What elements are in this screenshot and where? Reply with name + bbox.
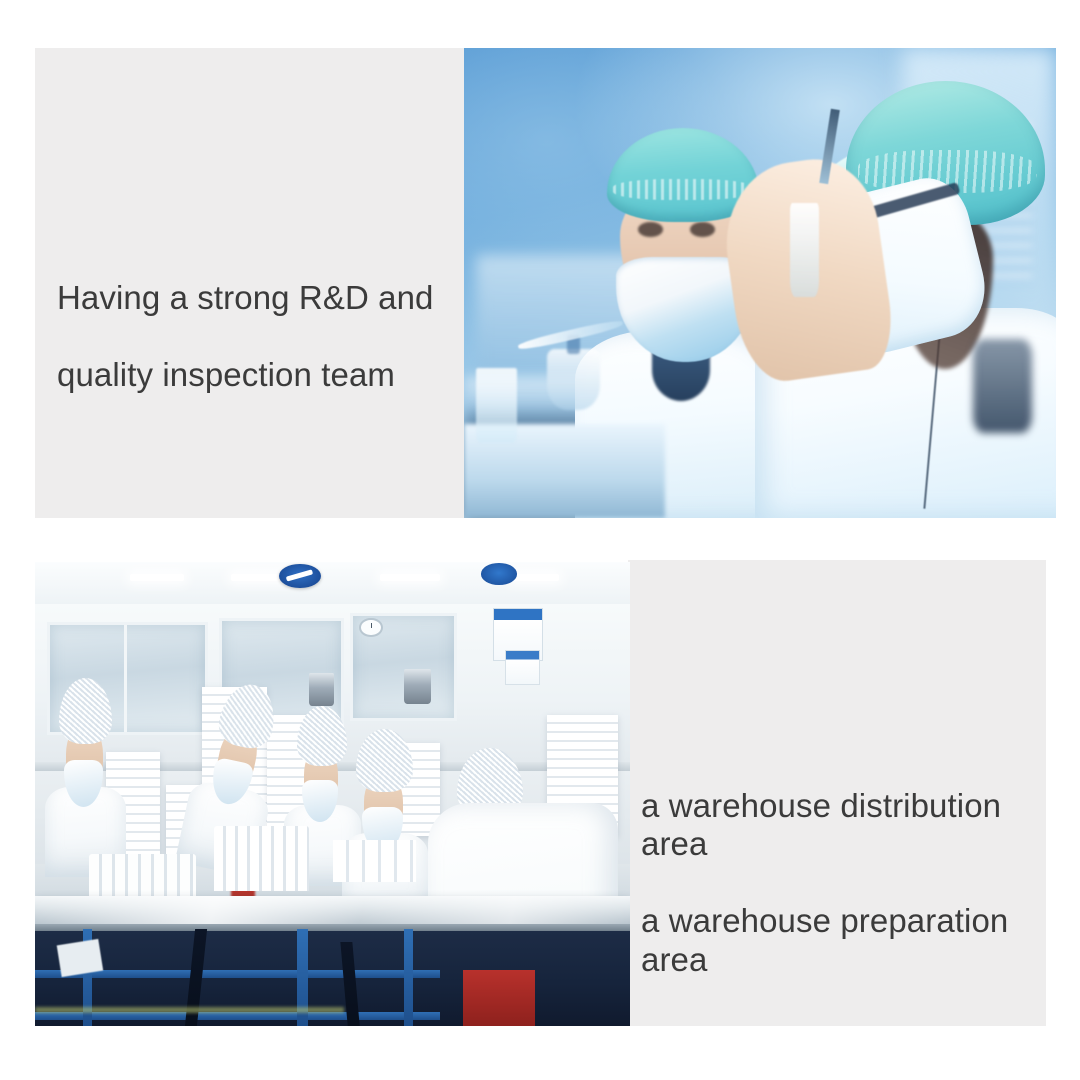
ceiling-light-3 — [380, 574, 440, 581]
wall-poster-secondary — [505, 650, 540, 684]
lab-reagent-bottle — [547, 349, 600, 410]
worker-hairnet — [297, 706, 348, 766]
white-tube-row-center — [214, 826, 309, 891]
poster-page: Having a strong R&D and quality inspecti… — [0, 0, 1080, 1080]
lab-stool — [973, 339, 1032, 433]
rnd-caption: Having a strong R&D and quality inspecti… — [57, 240, 457, 433]
blue-cart-rail-lower — [35, 1012, 440, 1020]
worker-hairnet — [59, 678, 113, 744]
ceiling-light-4 — [511, 574, 559, 581]
stainless-vessel-right — [404, 669, 431, 704]
ceiling-light-1 — [130, 574, 184, 581]
warehouse-caption-line-2: a warehouse preparation area — [641, 902, 1051, 979]
lab-eye-left — [638, 222, 663, 238]
section-rnd-quality: Having a strong R&D and quality inspecti… — [0, 0, 1080, 540]
lab-sample-vial — [790, 203, 820, 297]
table-glare — [35, 896, 630, 924]
window-mullion — [124, 625, 127, 732]
section-warehouse: a warehouse distribution area a warehous… — [0, 540, 1080, 1080]
lab-beaker — [476, 368, 517, 443]
laboratory-quality-inspection-photo — [464, 48, 1056, 518]
cleanroom-packing-warehouse-photo — [35, 562, 630, 1026]
blue-circular-sign-secondary — [481, 563, 517, 584]
worker-red-garment — [463, 970, 534, 1026]
lab-eye-right — [690, 222, 715, 238]
blue-circular-sign — [279, 564, 321, 588]
white-box-row — [333, 840, 416, 882]
warehouse-caption-line-1: a warehouse distribution area — [641, 787, 1051, 864]
warehouse-caption: a warehouse distribution area a warehous… — [641, 748, 1051, 1018]
rnd-caption-line-1: Having a strong R&D and — [57, 279, 457, 318]
stainless-vessel-left — [309, 673, 334, 705]
cleanroom-worker-4 — [356, 729, 413, 915]
worker-hairnet — [356, 729, 413, 792]
cleanroom-worker-1 — [59, 678, 113, 873]
blue-cart-leg-3 — [404, 929, 414, 1026]
rnd-caption-line-2: quality inspection team — [57, 356, 457, 395]
cleanroom-ceiling — [35, 562, 630, 604]
floor-marking-stripe — [35, 1007, 344, 1013]
